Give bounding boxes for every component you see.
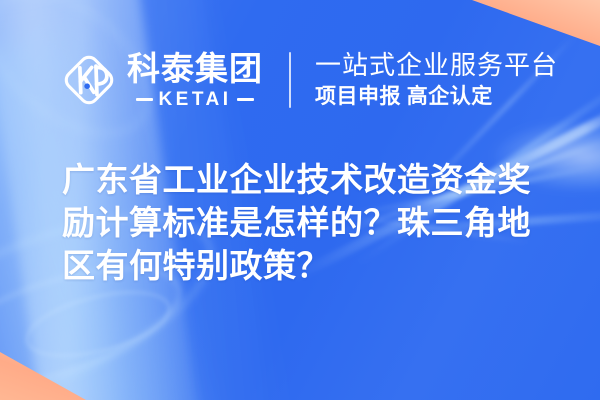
brand-name-en-row: KETAI: [127, 90, 263, 109]
header-divider: [289, 52, 291, 108]
brand-wordmark: 科泰集团 KETAI: [127, 52, 263, 109]
wordmark-dash-left: [136, 98, 153, 101]
promo-banner: 科泰集团 KETAI 一站式企业服务平台 项目申报 高企认定 广东省工业企业技术…: [0, 0, 600, 400]
wordmark-dash-right: [237, 98, 254, 101]
tagline-primary: 一站式企业服务平台: [315, 51, 558, 80]
tagline-secondary: 项目申报 高企认定: [315, 83, 558, 110]
banner-header: 科泰集团 KETAI 一站式企业服务平台 项目申报 高企认定: [0, 44, 600, 116]
brand-name-en: KETAI: [158, 90, 231, 109]
brand-name-cn: 科泰集团: [127, 52, 263, 85]
headline-text: 广东省工业企业技术改造资金奖励计算标准是怎样的？珠三角地区有何特别政策？: [62, 158, 562, 287]
brand-logo[interactable]: 科泰集团 KETAI: [58, 49, 263, 111]
ketai-diamond-kp-monogram-icon: [58, 49, 120, 111]
tagline-block: 一站式企业服务平台 项目申报 高企认定: [315, 51, 558, 110]
